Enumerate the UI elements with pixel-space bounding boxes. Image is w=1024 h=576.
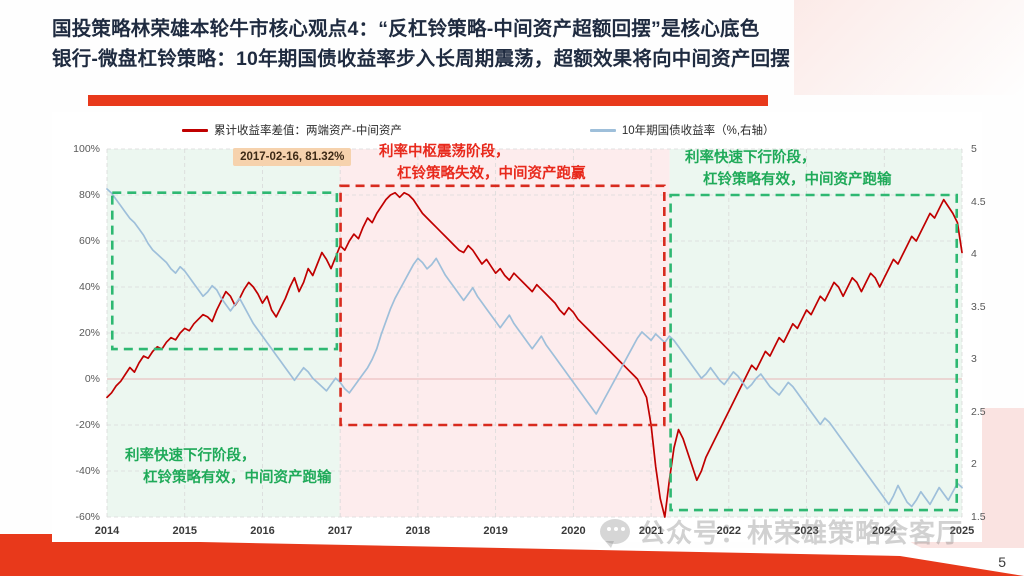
y-axis-left-tick: 100%	[73, 143, 100, 155]
x-axis-tick: 2024	[872, 525, 896, 537]
legend-swatch-yield	[590, 129, 616, 132]
annotation-line: 利率中枢震荡阶段，	[379, 141, 586, 163]
y-axis-left-tick: 0%	[85, 373, 100, 385]
y-axis-left-tick: 80%	[79, 189, 100, 201]
x-axis-tick: 2023	[794, 525, 818, 537]
data-label-peak: 2017-02-16, 81.32%	[233, 148, 351, 166]
title-line-2: 银行-微盘杠铃策略：10年期国债收益率步入长周期震荡，超额效果将向中间资产回摆	[52, 44, 1012, 74]
legend-item-spread: 累计收益率差值：两端资产-中间资产	[182, 122, 402, 138]
x-axis-tick: 2019	[483, 525, 507, 537]
y-axis-left-tick: 20%	[79, 327, 100, 339]
y-axis-left-tick: -20%	[75, 419, 100, 431]
title-line-1: 国投策略林荣雄本轮牛市核心观点4：“反杠铃策略-中间资产超额回摆”是核心底色	[52, 14, 1012, 44]
x-axis-tick: 2017	[328, 525, 352, 537]
annotation-line: 杠铃策略有效，中间资产跑输	[685, 169, 892, 191]
y-axis-right-tick: 2	[971, 458, 977, 470]
slide-root: 国投策略林荣雄本轮牛市核心观点4：“反杠铃策略-中间资产超额回摆”是核心底色 银…	[0, 0, 1024, 576]
y-axis-right-tick: 1.5	[971, 511, 986, 523]
plot-area: 100%80%60%40%20%0%-20%-40%-60%54.543.532…	[107, 149, 962, 517]
y-axis-left-tick: -40%	[75, 465, 100, 477]
annotation-line: 杠铃策略有效，中间资产跑输	[125, 467, 332, 489]
annotation-phase-3: 利率快速下行阶段，杠铃策略有效，中间资产跑输	[685, 147, 892, 191]
legend-item-yield: 10年期国债收益率（%,右轴）	[590, 122, 775, 138]
y-axis-right-tick: 4	[971, 248, 977, 260]
page-number: 5	[998, 554, 1006, 570]
x-axis-tick: 2022	[717, 525, 741, 537]
legend-swatch-spread	[182, 129, 208, 132]
annotation-line: 利率快速下行阶段，	[685, 147, 892, 169]
x-axis-tick: 2020	[561, 525, 585, 537]
annotation-phase-1: 利率快速下行阶段，杠铃策略有效，中间资产跑输	[125, 445, 332, 489]
x-axis-tick: 2014	[95, 525, 119, 537]
legend-label-spread: 累计收益率差值：两端资产-中间资产	[214, 122, 402, 138]
y-axis-left-tick: 40%	[79, 281, 100, 293]
page-title: 国投策略林荣雄本轮牛市核心观点4：“反杠铃策略-中间资产超额回摆”是核心底色 银…	[52, 14, 1012, 74]
y-axis-right-tick: 3.5	[971, 301, 986, 313]
legend-label-yield: 10年期国债收益率（%,右轴）	[622, 122, 775, 138]
x-axis-tick: 2016	[250, 525, 274, 537]
annotation-phase-2: 利率中枢震荡阶段，杠铃策略失效，中间资产跑赢	[379, 141, 586, 185]
y-axis-left-tick: -60%	[75, 511, 100, 523]
y-axis-right-tick: 4.5	[971, 196, 986, 208]
y-axis-right-tick: 2.5	[971, 406, 986, 418]
title-accent-bar	[88, 95, 768, 106]
y-axis-right-tick: 5	[971, 143, 977, 155]
annotation-line: 杠铃策略失效，中间资产跑赢	[379, 163, 586, 185]
annotation-line: 利率快速下行阶段，	[125, 445, 332, 467]
chart-container: 累计收益率差值：两端资产-中间资产 10年期国债收益率（%,右轴） 100%80…	[52, 112, 982, 542]
chart-legend: 累计收益率差值：两端资产-中间资产 10年期国债收益率（%,右轴）	[182, 120, 942, 140]
y-axis-left-tick: 60%	[79, 235, 100, 247]
x-axis-tick: 2021	[639, 525, 663, 537]
y-axis-right-tick: 3	[971, 353, 977, 365]
x-axis-tick: 2015	[172, 525, 196, 537]
x-axis-tick: 2025	[950, 525, 974, 537]
x-axis-tick: 2018	[406, 525, 430, 537]
